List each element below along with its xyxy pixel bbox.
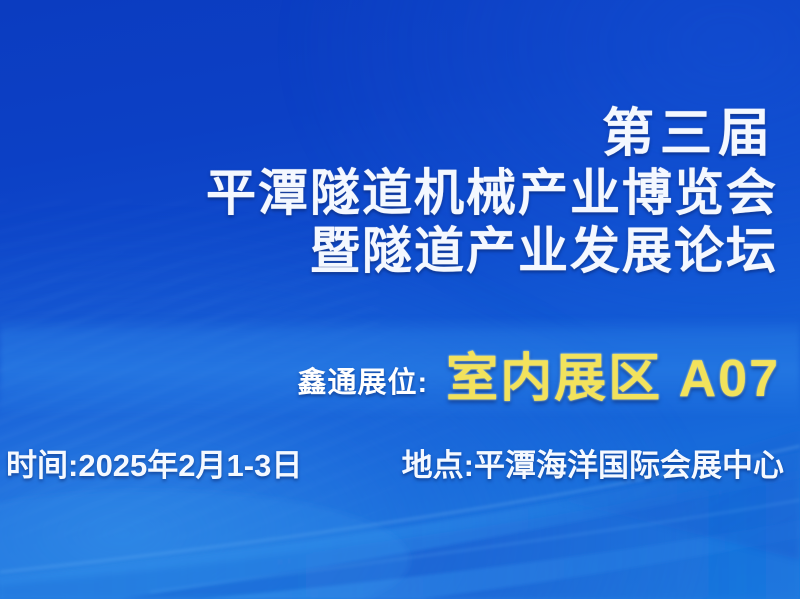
title-line-main: 平潭隧道机械产业博览会	[0, 164, 778, 222]
background-swoosh-shapes	[0, 0, 800, 599]
event-info-row: 时间:2025年2月1-3日 地点:平潭海洋国际会展中心	[6, 440, 784, 485]
title-line-subtitle: 暨隧道产业发展论坛	[0, 222, 778, 280]
event-date: 时间:2025年2月1-3日	[6, 440, 302, 485]
event-venue: 地点:平潭海洋国际会展中心	[402, 440, 784, 485]
booth-label: 鑫通展位:	[297, 359, 446, 401]
poster-title-block: 第三届 平潭隧道机械产业博览会 暨隧道产业发展论坛	[0, 104, 778, 280]
exhibition-poster: 第三届 平潭隧道机械产业博览会 暨隧道产业发展论坛 鑫通展位: 室内展区 A07…	[0, 0, 800, 599]
booth-number: 室内展区 A07	[446, 336, 780, 411]
booth-row: 鑫通展位: 室内展区 A07	[0, 336, 780, 411]
title-line-edition: 第三届	[0, 104, 778, 164]
